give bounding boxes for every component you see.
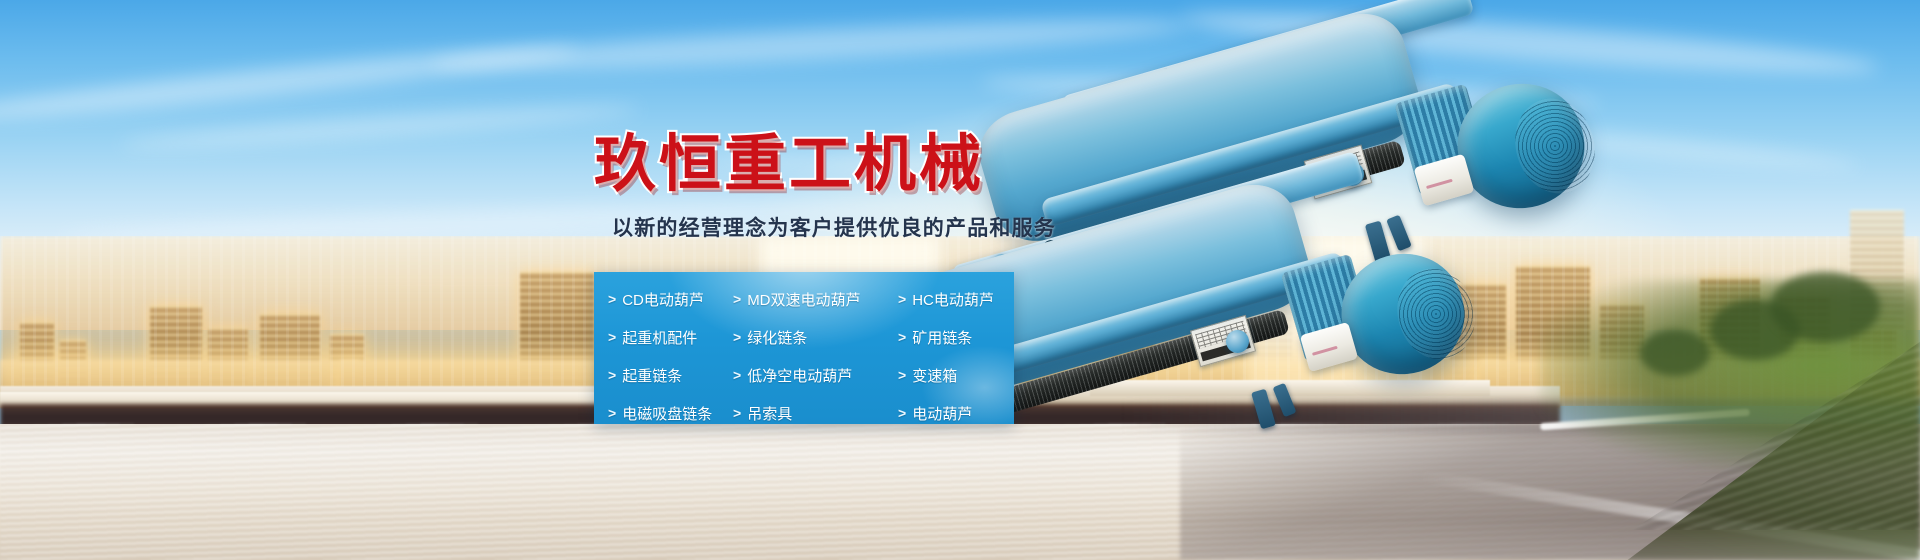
product-category-label: 低净空电动葫芦: [747, 365, 852, 386]
hoist-hook-bracket: [1251, 389, 1276, 430]
chevron-right-icon: >: [608, 291, 616, 307]
chevron-right-icon: >: [898, 405, 906, 421]
product-category-label: 起重链条: [622, 365, 682, 386]
product-category-link[interactable]: >MD双速电动葫芦: [719, 280, 884, 318]
product-category-label: 矿用链条: [912, 327, 972, 348]
product-category-link[interactable]: >吊索具: [719, 394, 884, 432]
product-category-label: 电动葫芦: [912, 403, 972, 424]
product-category-label: 吊索具: [747, 403, 792, 424]
product-category-label: 起重机配件: [622, 327, 697, 348]
product-category-label: 变速箱: [912, 365, 957, 386]
product-category-link[interactable]: >变速箱: [884, 356, 1014, 394]
product-category-grid: >CD电动葫芦>MD双速电动葫芦>HC电动葫芦>起重机配件>绿化链条>矿用链条>…: [594, 272, 1014, 424]
chevron-right-icon: >: [608, 329, 616, 345]
product-category-link[interactable]: >HC电动葫芦: [884, 280, 1014, 318]
chevron-right-icon: >: [608, 367, 616, 383]
page-title: 玖恒重工机械: [594, 132, 984, 198]
product-category-link[interactable]: >CD电动葫芦: [594, 280, 719, 318]
product-category-label: HC电动葫芦: [912, 289, 994, 310]
product-category-link[interactable]: >起重机配件: [594, 318, 719, 356]
chevron-right-icon: >: [733, 367, 741, 383]
product-category-link[interactable]: >起重链条: [594, 356, 719, 394]
chevron-right-icon: >: [898, 329, 906, 345]
product-category-link[interactable]: >矿用链条: [884, 318, 1014, 356]
chevron-right-icon: >: [898, 291, 906, 307]
chevron-right-icon: >: [733, 291, 741, 307]
chevron-right-icon: >: [608, 405, 616, 421]
product-category-label: 绿化链条: [747, 327, 807, 348]
electric-hoist-group: [1040, 40, 1920, 460]
product-category-link[interactable]: >电磁吸盘链条: [594, 394, 719, 432]
hoist-hook-bracket: [1272, 383, 1296, 418]
product-category-label: CD电动葫芦: [622, 289, 704, 310]
promo-banner: 玖恒重工机械 以新的经营理念为客户提供优良的产品和服务 >CD电动葫芦>MD双速…: [0, 0, 1920, 560]
product-category-panel: >CD电动葫芦>MD双速电动葫芦>HC电动葫芦>起重机配件>绿化链条>矿用链条>…: [594, 272, 1014, 424]
product-category-link[interactable]: >绿化链条: [719, 318, 884, 356]
chevron-right-icon: >: [898, 367, 906, 383]
product-category-link[interactable]: >低净空电动葫芦: [719, 356, 884, 394]
chevron-right-icon: >: [733, 329, 741, 345]
page-subtitle: 以新的经营理念为客户提供优良的产品和服务: [612, 216, 1056, 242]
chevron-right-icon: >: [733, 405, 741, 421]
hoist-bolt-boss: [1226, 330, 1249, 353]
product-category-link[interactable]: >电动葫芦: [884, 394, 1014, 432]
hoist-hook-bracket: [1386, 215, 1412, 252]
product-category-label: 电磁吸盘链条: [622, 403, 712, 424]
product-category-label: MD双速电动葫芦: [747, 289, 860, 310]
